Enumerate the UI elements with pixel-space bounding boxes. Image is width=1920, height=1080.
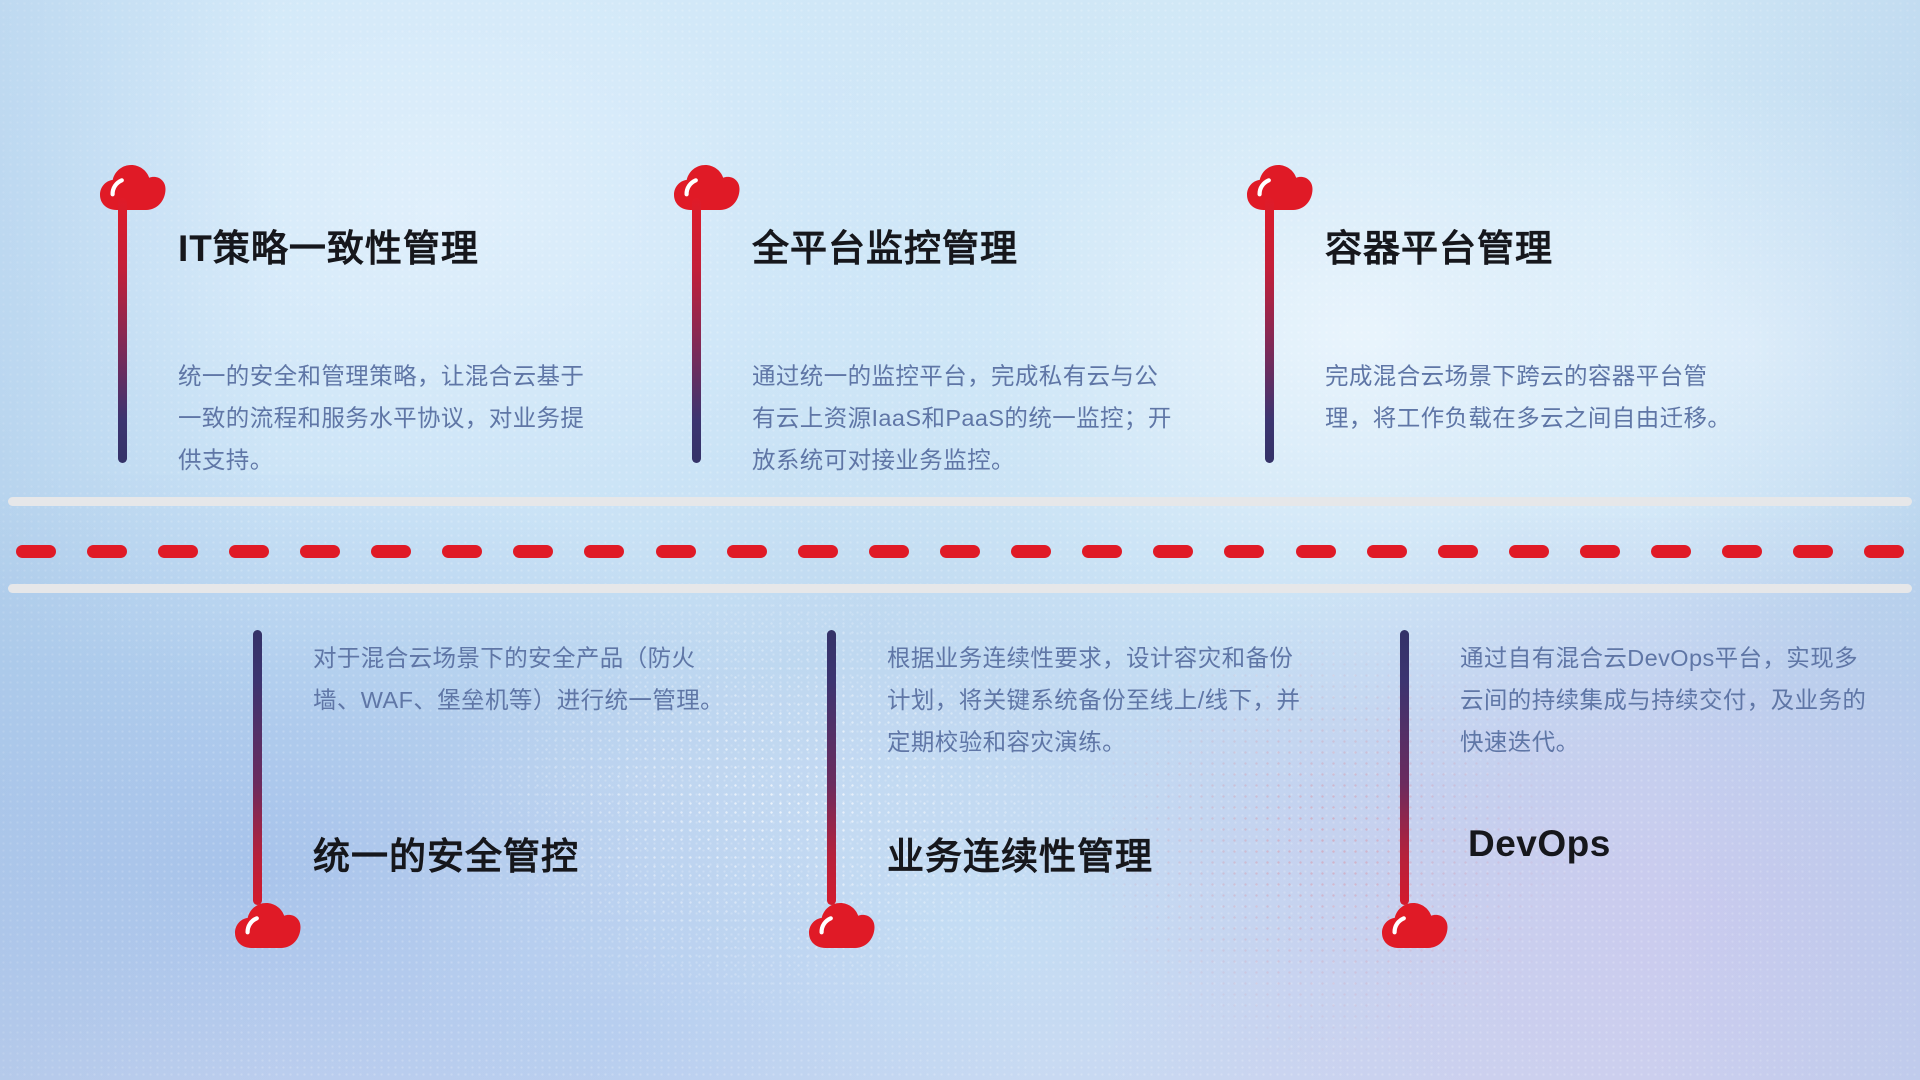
accent-bar [1265, 198, 1274, 463]
cloud-icon [233, 898, 301, 950]
divider-dash [1509, 545, 1549, 558]
divider-dash [300, 545, 340, 558]
divider-dash [869, 545, 909, 558]
divider-dash [1864, 545, 1904, 558]
divider-dash [798, 545, 838, 558]
divider-dash [87, 545, 127, 558]
divider-dash [1367, 545, 1407, 558]
top-item-title: IT策略一致性管理 [178, 218, 479, 272]
cloud-icon [672, 160, 740, 212]
top-item-body: 通过统一的监控平台，完成私有云与公有云上资源IaaS和PaaS的统一监控；开放系… [752, 355, 1172, 481]
divider-dash [1296, 545, 1336, 558]
accent-bar [1400, 630, 1409, 905]
divider-dash [229, 545, 269, 558]
top-item-title: 全平台监控管理 [752, 218, 1018, 272]
divider-dash [442, 545, 482, 558]
top-item-body: 统一的安全和管理策略，让混合云基于一致的流程和服务水平协议，对业务提供支持。 [178, 355, 598, 481]
divider-dash [1722, 545, 1762, 558]
bottom-item-body: 对于混合云场景下的安全产品（防火墙、WAF、堡垒机等）进行统一管理。 [313, 637, 733, 721]
divider-dash [940, 545, 980, 558]
divider-dash [656, 545, 696, 558]
bottom-item-body: 通过自有混合云DevOps平台，实现多云间的持续集成与持续交付，及业务的快速迭代… [1460, 637, 1880, 763]
top-item-title: 容器平台管理 [1325, 218, 1553, 272]
divider-dash [1153, 545, 1193, 558]
divider-dash [1011, 545, 1051, 558]
bottom-item-title: 统一的安全管控 [313, 826, 579, 880]
bottom-item-title: DevOps [1468, 823, 1611, 865]
divider-dash [1224, 545, 1264, 558]
accent-bar [253, 630, 262, 905]
cloud-icon [1245, 160, 1313, 212]
divider-dashed-red [0, 545, 1920, 558]
divider-dash [727, 545, 767, 558]
cloud-icon [1380, 898, 1448, 950]
divider-dash [584, 545, 624, 558]
divider-dash [513, 545, 553, 558]
accent-bar [118, 198, 127, 463]
accent-bar [827, 630, 836, 905]
divider-dash [1438, 545, 1478, 558]
top-item-body: 完成混合云场景下跨云的容器平台管理，将工作负载在多云之间自由迁移。 [1325, 355, 1745, 439]
divider-dash [1580, 545, 1620, 558]
divider-dash [371, 545, 411, 558]
cloud-icon [807, 898, 875, 950]
divider-dash [1651, 545, 1691, 558]
bottom-item-title: 业务连续性管理 [887, 826, 1153, 880]
bottom-item-body: 根据业务连续性要求，设计容灾和备份计划，将关键系统备份至线上/线下，并定期校验和… [887, 637, 1307, 763]
divider-rule-top [8, 497, 1912, 506]
cloud-icon [98, 160, 166, 212]
accent-bar [692, 198, 701, 463]
divider-dash [1082, 545, 1122, 558]
divider-dash [1793, 545, 1833, 558]
divider-rule-bottom [8, 584, 1912, 593]
divider-dash [158, 545, 198, 558]
divider-dash [16, 545, 56, 558]
